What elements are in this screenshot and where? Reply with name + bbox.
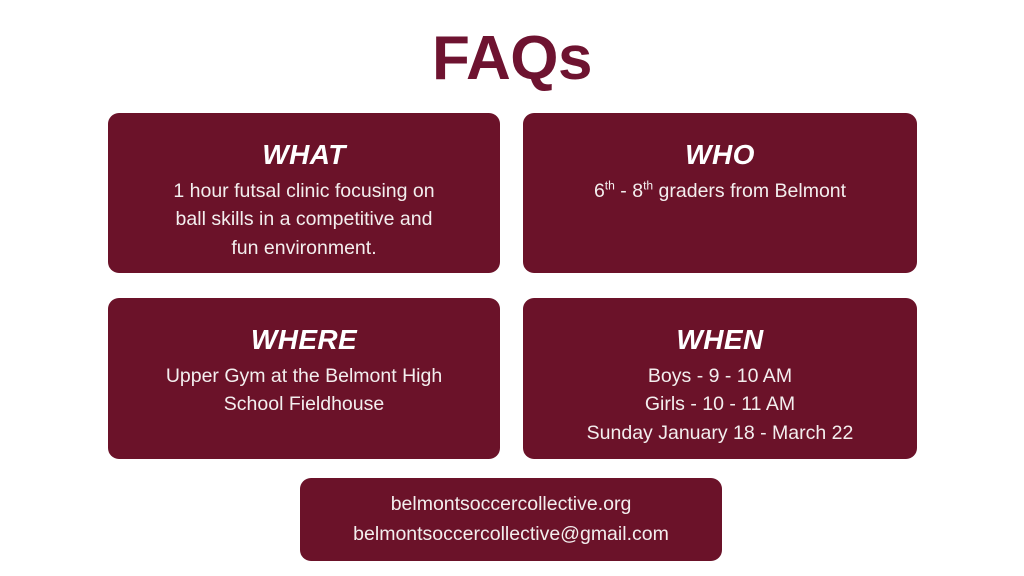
- contact-card: belmontsoccercollective.org belmontsocce…: [300, 478, 722, 561]
- faq-card-body: 6th - 8th graders from Belmont: [594, 177, 846, 206]
- contact-website[interactable]: belmontsoccercollective.org: [391, 490, 632, 519]
- faq-card-body-line: School Fieldhouse: [166, 390, 442, 419]
- faq-card-body-line: 6th - 8th graders from Belmont: [594, 177, 846, 206]
- faq-card-body-line: Upper Gym at the Belmont High: [166, 362, 442, 391]
- faq-card-body-line: Boys - 9 - 10 AM: [587, 362, 854, 391]
- faq-card-body-line: ball skills in a competitive and: [173, 205, 434, 234]
- faq-card-where: WHERE Upper Gym at the Belmont High Scho…: [108, 298, 500, 459]
- faq-card-body: Upper Gym at the Belmont High School Fie…: [166, 362, 442, 419]
- contact-email[interactable]: belmontsoccercollective@gmail.com: [353, 520, 669, 549]
- faq-card-who: WHO 6th - 8th graders from Belmont: [523, 113, 917, 273]
- faq-card-when: WHEN Boys - 9 - 10 AM Girls - 10 - 11 AM…: [523, 298, 917, 459]
- page-title: FAQs: [0, 26, 1024, 91]
- faq-card-body: 1 hour futsal clinic focusing on ball sk…: [173, 177, 434, 263]
- faq-card-what: WHAT 1 hour futsal clinic focusing on ba…: [108, 113, 500, 273]
- faq-card-body: Boys - 9 - 10 AM Girls - 10 - 11 AM Sund…: [587, 362, 854, 448]
- faq-card-heading: WHO: [685, 140, 755, 171]
- faq-card-body-line: Sunday January 18 - March 22: [587, 419, 854, 448]
- faq-card-body-line: 1 hour futsal clinic focusing on: [173, 177, 434, 206]
- faq-card-body-line: fun environment.: [173, 234, 434, 263]
- faq-card-heading: WHERE: [251, 325, 357, 356]
- faq-card-heading: WHAT: [262, 140, 346, 171]
- faq-card-heading: WHEN: [676, 325, 763, 356]
- faq-card-body-line: Girls - 10 - 11 AM: [587, 390, 854, 419]
